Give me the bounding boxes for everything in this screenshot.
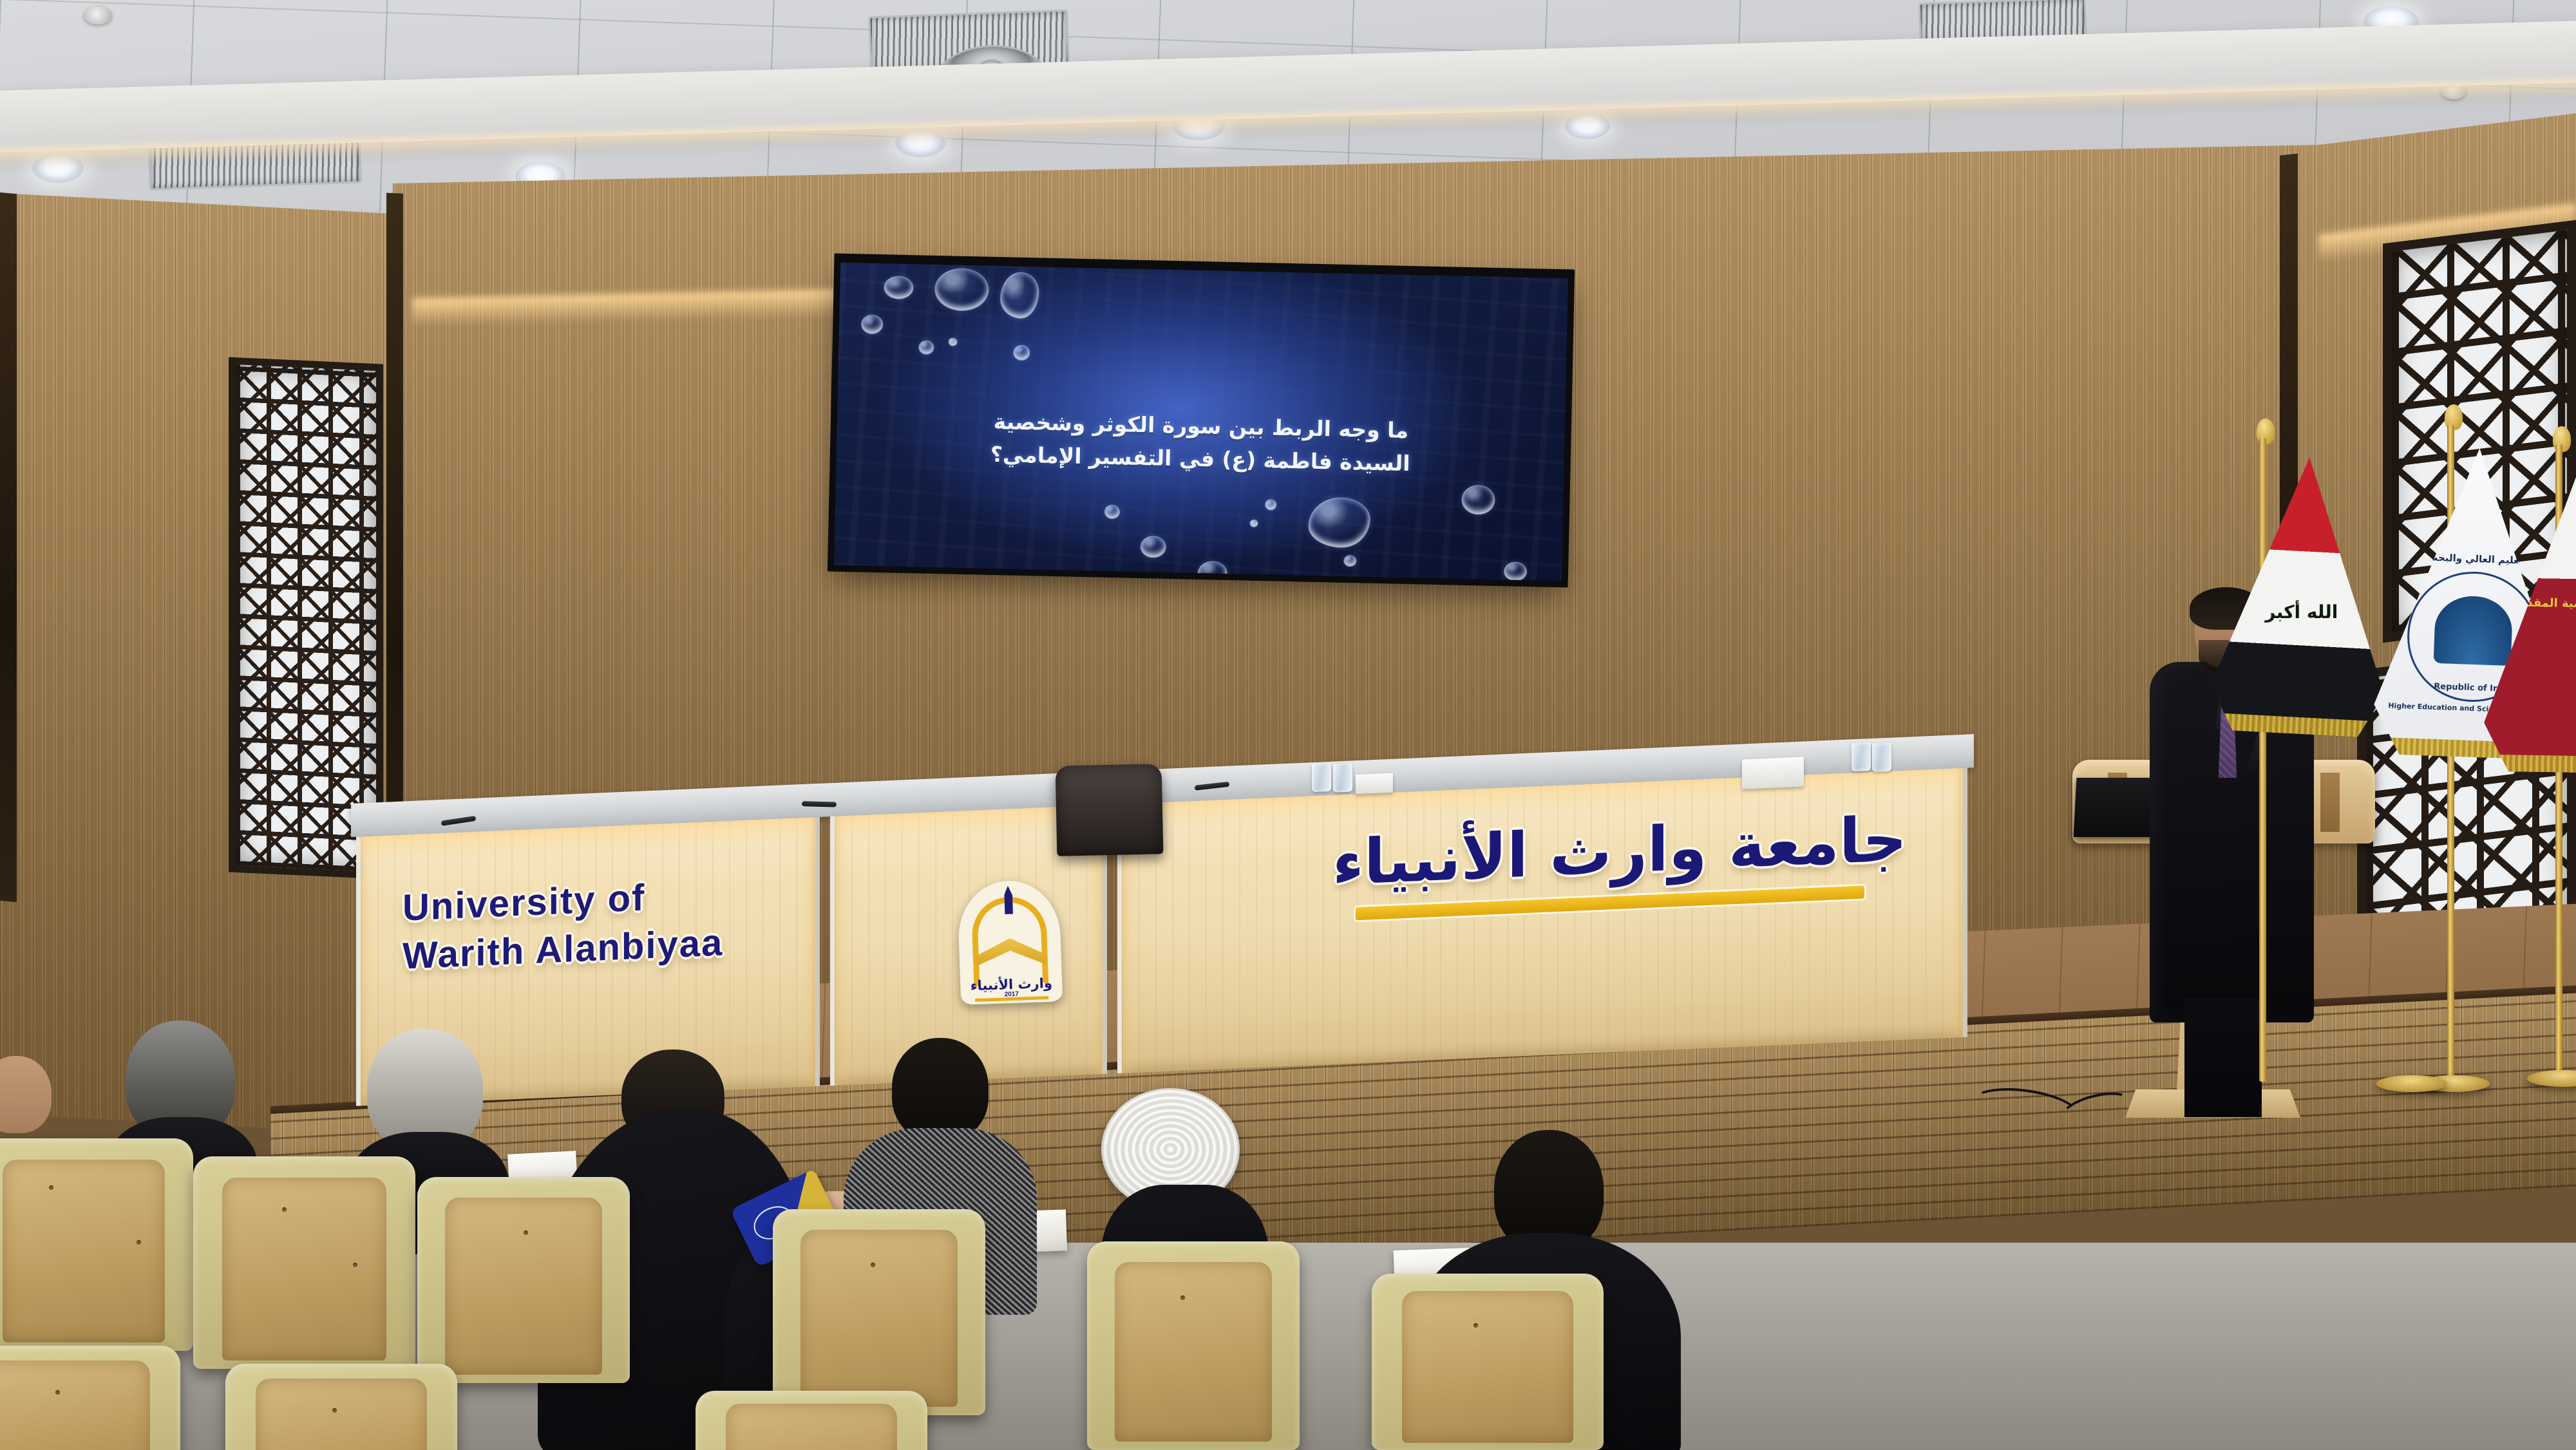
audience-seat-r2-c2[interactable] — [225, 1364, 457, 1450]
seat-screw — [55, 1390, 60, 1395]
slide-bubble-5 — [918, 340, 934, 355]
seat-backrest — [800, 1230, 958, 1407]
slide-bubble-14 — [1343, 555, 1356, 567]
flag-iraq: الله أكبر — [2228, 438, 2421, 1095]
flag-shrine: العتبة العباسية المقدسة — [2499, 444, 2576, 1088]
water-glass-2 — [1333, 763, 1352, 792]
slide-bubble-8 — [1104, 504, 1120, 519]
head-table-sign-english: University of Warith Alanbiyaa — [402, 867, 789, 981]
water-glass-4 — [1872, 743, 1891, 772]
audience-seat-r2-c1[interactable] — [0, 1346, 180, 1450]
flag-pole-iraq — [2259, 438, 2266, 1082]
slide-question-text: ما وجه الربط بين سورة الكوثر وشخصية السي… — [887, 403, 1514, 482]
wall-trim-left — [0, 193, 17, 902]
seat-backrest — [3, 1160, 165, 1342]
slide-bubble-11 — [1250, 520, 1258, 527]
seat-backrest — [445, 1198, 602, 1375]
slide-bubble-16 — [1503, 561, 1527, 581]
seat-screw — [332, 1408, 337, 1413]
audience-seat-r1-c3[interactable] — [417, 1177, 630, 1383]
flag-fringe-iraq — [2208, 713, 2383, 739]
slide-bubble-4 — [861, 314, 884, 334]
water-glass-3 — [1851, 742, 1871, 771]
flag-base-iraq — [2376, 1075, 2447, 1092]
slide-bubble-10 — [1265, 499, 1276, 510]
seat-screw — [49, 1185, 53, 1190]
university-emblem: وارث الأنبياء 2017 — [957, 879, 1063, 1004]
slide-bubble-6 — [948, 337, 957, 346]
seat-backrest — [726, 1404, 897, 1450]
flag-iraq-text: الله أكبر — [2221, 601, 2381, 623]
panel-chair[interactable] — [1056, 764, 1164, 856]
seat-screw — [871, 1263, 875, 1267]
name-card-2 — [1742, 757, 1804, 789]
projection-screen[interactable]: ما وجه الربط بين سورة الكوثر وشخصية السي… — [834, 263, 1568, 581]
audience-seat-r1-c2[interactable] — [193, 1156, 415, 1369]
seat-backrest — [256, 1379, 427, 1450]
slide-bubble-7 — [1013, 345, 1030, 361]
lattice-screen-left — [229, 357, 383, 880]
audience-seat-r1-c4[interactable] — [773, 1209, 985, 1415]
audience-seat-r2-c3[interactable] — [696, 1391, 927, 1450]
audience-seat-r1-c1[interactable] — [0, 1138, 193, 1351]
slide-bubble-1 — [884, 276, 914, 299]
flag-shrine-text: العتبة العباسية المقدسة — [2493, 596, 2576, 612]
name-card-1 — [1356, 773, 1393, 794]
slide-bubble-13 — [1461, 485, 1495, 515]
slide-bubble-12 — [1307, 496, 1370, 548]
seat-backrest — [222, 1178, 386, 1361]
flag-cloth-iraq: الله أكبر — [2208, 453, 2396, 739]
slide-bubble-3 — [999, 272, 1039, 319]
table-microphone-2[interactable] — [802, 801, 837, 807]
seat-backrest — [1115, 1262, 1272, 1442]
attendee-head — [0, 1056, 52, 1133]
smoke-detector-left — [84, 6, 112, 24]
water-glass-1 — [1312, 763, 1331, 792]
seat-backrest — [1402, 1291, 1573, 1443]
seat-backrest — [0, 1361, 150, 1450]
attendee-head — [892, 1038, 989, 1141]
audience-seat-r1-c5[interactable] — [1087, 1241, 1300, 1450]
seat-screw — [137, 1240, 141, 1245]
slide-bubble-2 — [934, 268, 989, 312]
conference-hall-photo: ما وجه الربط بين سورة الكوثر وشخصية السي… — [0, 0, 2576, 1450]
attendee-far-left-man-glasses — [0, 1056, 64, 1146]
flag-base-shrine — [2527, 1070, 2576, 1087]
projected-slide: ما وجه الربط بين سورة الكوثر وشخصية السي… — [834, 263, 1568, 581]
audience-seat-r1-c6[interactable] — [1372, 1274, 1604, 1450]
slide-bubble-9 — [1140, 536, 1166, 558]
